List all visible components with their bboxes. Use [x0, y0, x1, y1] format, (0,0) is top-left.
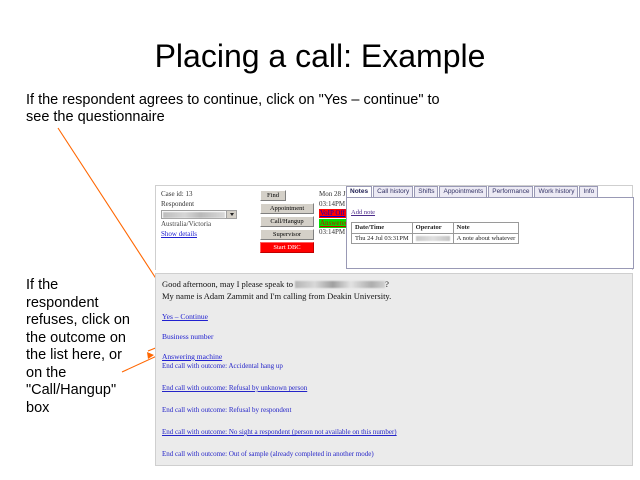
- col-operator: Operator: [412, 223, 453, 234]
- tab-call-history[interactable]: Call history: [373, 186, 413, 197]
- supervisor-button[interactable]: Supervisor: [260, 229, 314, 240]
- link-yes-continue[interactable]: Yes – Continue: [162, 312, 602, 321]
- link-answering-machine[interactable]: Answering machine: [162, 352, 602, 361]
- redacted-operator-name: [416, 236, 450, 241]
- tab-shifts[interactable]: Shifts: [414, 186, 438, 197]
- respondent-select[interactable]: [161, 210, 237, 219]
- redacted-respondent-name-inline: [295, 281, 385, 288]
- table-row[interactable]: Thu 24 Jul 03:31PM A note about whatever: [352, 233, 519, 244]
- script-line-1: Good afternoon, may I please speak to ?: [162, 279, 492, 291]
- tab-notes[interactable]: Notes: [346, 186, 372, 197]
- tab-strip: Notes Call history Shifts Appointments P…: [346, 186, 634, 197]
- find-button[interactable]: Find: [260, 190, 286, 201]
- link-business-number[interactable]: Business number: [162, 332, 602, 341]
- tab-panel: Notes Call history Shifts Appointments P…: [346, 186, 634, 270]
- script-line-2: My name is Adam Zammit and I'm calling f…: [162, 291, 492, 303]
- link-outcome-no-sight-respondent[interactable]: End call with outcome: No sight a respon…: [162, 428, 602, 437]
- cell-datetime: Thu 24 Jul 03:31PM: [352, 233, 413, 244]
- tab-work-history[interactable]: Work history: [534, 186, 578, 197]
- page-title: Placing a call: Example: [0, 38, 640, 75]
- chevron-down-icon[interactable]: [226, 211, 236, 218]
- script-line-1-suffix: ?: [385, 279, 389, 289]
- answered-status-badge[interactable]: Answered: [319, 219, 349, 228]
- action-button-column: Find Appointment Call/Hangup Supervisor …: [260, 190, 316, 255]
- slide-canvas: Placing a call: Example If the responden…: [0, 0, 640, 480]
- annotation-text-top: If the respondent agrees to continue, cl…: [26, 92, 456, 126]
- tab-appointments[interactable]: Appointments: [439, 186, 487, 197]
- tab-info[interactable]: Info: [579, 186, 598, 197]
- timezone-label: Australia/Victoria: [161, 220, 256, 230]
- tab-performance[interactable]: Performance: [488, 186, 533, 197]
- table-header-row: Date/Time Operator Note: [352, 223, 519, 234]
- link-outcome-out-of-sample[interactable]: End call with outcome: Out of sample (al…: [162, 450, 602, 459]
- link-outcome-accidental-hang-up[interactable]: End call with outcome: Accidental hang u…: [162, 362, 602, 371]
- end-call-outcome-links: End call with outcome: Accidental hang u…: [162, 362, 602, 472]
- appointment-button[interactable]: Appointment: [260, 203, 314, 214]
- notes-table: Date/Time Operator Note Thu 24 Jul 03:31…: [351, 222, 519, 244]
- call-hangup-button[interactable]: Call/Hangup: [260, 216, 314, 227]
- link-outcome-refusal-unknown-person[interactable]: End call with outcome: Refusal by unknow…: [162, 384, 602, 393]
- voip-status-badge[interactable]: VoIP Off: [319, 209, 346, 218]
- respondent-label: Respondent: [161, 200, 256, 210]
- tab-body-notes: Add note Date/Time Operator Note Thu 24 …: [346, 197, 634, 269]
- link-outcome-refusal-respondent[interactable]: End call with outcome: Refusal by respon…: [162, 406, 602, 415]
- script-line-1-prefix: Good afternoon, may I please speak to: [162, 279, 295, 289]
- annotation-text-left: If the respondent refuses, click on the …: [26, 277, 131, 417]
- start-dbc-button[interactable]: Start DBC: [260, 242, 314, 253]
- case-id-label: Case id: 13: [161, 190, 256, 200]
- redacted-respondent-name: [163, 212, 225, 218]
- call-script-text: Good afternoon, may I please speak to ? …: [162, 279, 492, 302]
- cell-operator: [412, 233, 453, 244]
- case-info-block: Case id: 13 Respondent Australia/Victori…: [161, 190, 256, 239]
- app-window-bottom: Good afternoon, may I please speak to ? …: [155, 273, 633, 466]
- col-datetime: Date/Time: [352, 223, 413, 234]
- app-window-top: Case id: 13 Respondent Australia/Victori…: [155, 185, 633, 270]
- cell-note: A note about whatever: [453, 233, 519, 244]
- show-details-link[interactable]: Show details: [161, 230, 256, 240]
- col-note: Note: [453, 223, 519, 234]
- add-note-link[interactable]: Add note: [351, 209, 375, 216]
